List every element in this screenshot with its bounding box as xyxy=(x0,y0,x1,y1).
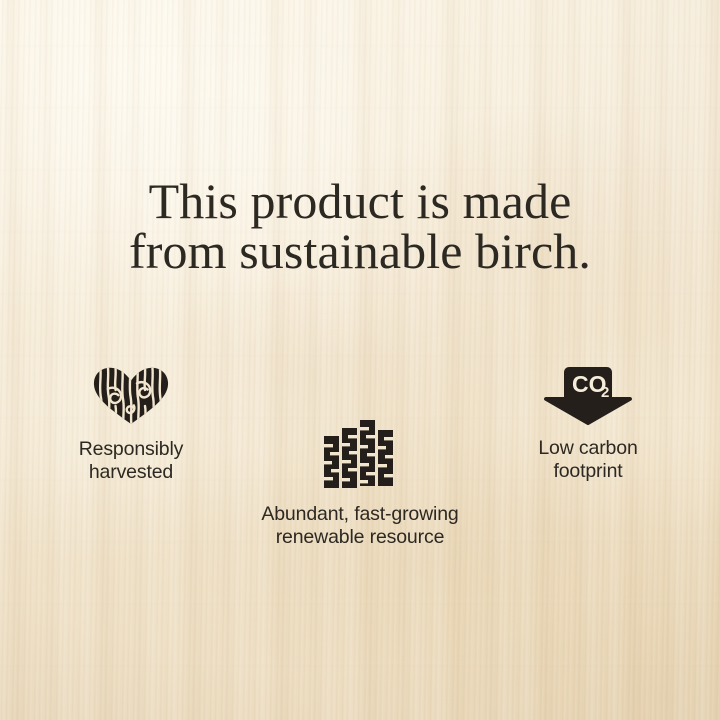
headline-line-2: from sustainable birch. xyxy=(0,226,720,276)
feature-renewable-resource: Abundant, fast-growing renewable resourc… xyxy=(250,418,470,549)
feature-icon-container xyxy=(26,366,236,426)
co2-down-arrow-icon: CO 2 xyxy=(538,365,638,427)
feature-icon-container: CO 2 xyxy=(483,365,693,427)
feature-caption-line-2: footprint xyxy=(483,460,693,483)
feature-icon-container xyxy=(250,418,470,492)
feature-caption-line-1: Low carbon xyxy=(483,437,693,460)
panel-content: This product is made from sustainable bi… xyxy=(0,0,720,720)
birch-product-panel: This product is made from sustainable bi… xyxy=(0,0,720,720)
feature-responsibly-harvested: Responsibly harvested xyxy=(26,366,236,484)
feature-caption-line-2: renewable resource xyxy=(250,526,470,549)
feature-low-carbon-footprint: CO 2 Low carbon footprint xyxy=(483,365,693,483)
wood-grain-heart-icon xyxy=(91,366,171,426)
feature-caption: Low carbon footprint xyxy=(483,437,693,483)
co2-icon-subscript: 2 xyxy=(601,384,609,401)
feature-caption: Responsibly harvested xyxy=(26,438,236,484)
feature-caption-line-1: Abundant, fast-growing xyxy=(250,503,470,526)
page-title: This product is made from sustainable bi… xyxy=(0,176,720,276)
headline-line-1: This product is made xyxy=(0,176,720,226)
feature-caption: Abundant, fast-growing renewable resourc… xyxy=(250,503,470,549)
feature-caption-line-1: Responsibly xyxy=(26,438,236,461)
birch-trunks-icon xyxy=(322,418,398,492)
feature-caption-line-2: harvested xyxy=(26,461,236,484)
